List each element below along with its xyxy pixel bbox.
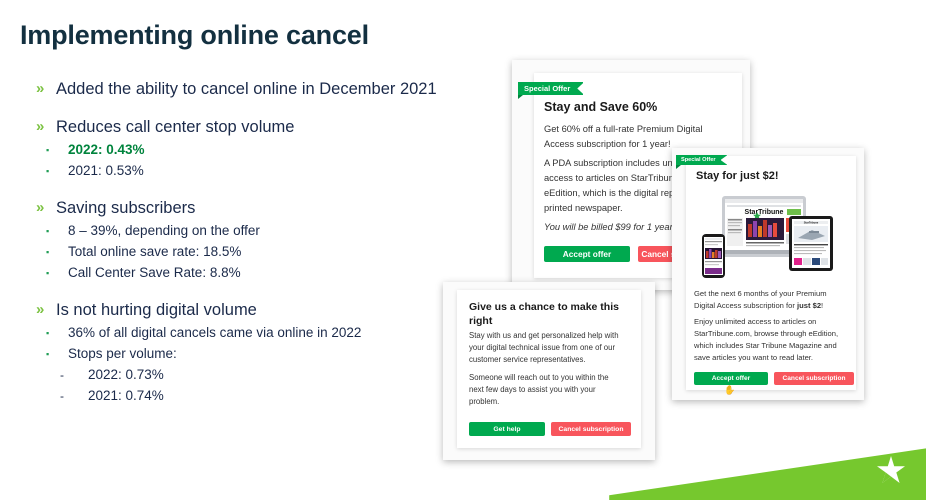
bullet-list: » Added the ability to cancel online in … (30, 78, 470, 407)
sub-bullet-item: ▪ Stops per volume: (30, 344, 470, 364)
ribbon-tail-icon (518, 95, 523, 99)
retention-paragraph-2: Someone will reach out to you within the… (469, 372, 623, 408)
sub-bullet-text: 2021: 0.53% (68, 161, 144, 181)
bullet-text: Is not hurting digital volume (56, 299, 257, 321)
sub-bullet-item: ▪ Call Center Save Rate: 8.8% (30, 263, 470, 283)
sub-bullet-item: ▪ 2022: 0.43% (30, 140, 470, 160)
sub-sub-bullet-item: - 2022: 0.73% (30, 365, 470, 385)
square-bullet-icon: ▪ (30, 242, 68, 262)
slide-canvas: Implementing online cancel » Added the a… (0, 0, 926, 500)
svg-text:StarTribune: StarTribune (804, 221, 819, 225)
bullet-text: Saving subscribers (56, 197, 195, 219)
sub-bullet-item: ▪ 8 – 39%, depending on the offer (30, 221, 470, 241)
chevron-bullet-icon: » (30, 116, 56, 138)
svg-text:StarTribune: StarTribune (745, 209, 784, 216)
retention-card-give-us-a-chance: Give us a chance to make this right Stay… (443, 282, 655, 460)
special-offer-badge-label: Special Offer (524, 84, 570, 93)
accept-offer-button[interactable]: Accept offer (694, 372, 768, 385)
bullet-text: Reduces call center stop volume (56, 116, 294, 138)
page-title: Implementing online cancel (20, 20, 369, 51)
ribbon-tail-icon (676, 165, 681, 169)
offer-card-stay-for-two-dollars: Special Offer Stay for just $2! StarTrib… (672, 148, 864, 400)
ribbon-notch-icon (577, 82, 584, 95)
offer-paragraph-1-tail: ! (821, 301, 823, 310)
square-bullet-icon: ▪ (30, 263, 68, 283)
offer-price-emphasis: just $2 (797, 301, 821, 310)
square-bullet-icon: ▪ (30, 140, 68, 160)
bullet-item: » Saving subscribers (30, 197, 470, 219)
sub-bullet-text: 2022: 0.43% (68, 140, 145, 160)
offer-heading: Stay and Save 60% (544, 100, 657, 114)
chevron-bullet-icon: » (30, 78, 56, 100)
sub-bullet-text: Total online save rate: 18.5% (68, 242, 241, 262)
sub-bullet-text: Stops per volume: (68, 344, 177, 364)
startribune-devices-image: StarTribune (694, 190, 840, 282)
bullet-text: Added the ability to cancel online in De… (56, 78, 437, 100)
bullet-item: » Reduces call center stop volume (30, 116, 470, 138)
special-offer-badge: Special Offer (676, 155, 727, 165)
sub-sub-bullet-text: 2022: 0.73% (88, 365, 164, 385)
sub-bullet-text: Call Center Save Rate: 8.8% (68, 263, 241, 283)
sub-sub-bullet-text: 2021: 0.74% (88, 386, 164, 406)
bullet-group-1: » Added the ability to cancel online in … (30, 78, 470, 100)
retention-paragraph-1: Stay with us and get personalized help w… (469, 330, 623, 366)
chevron-bullet-icon: » (30, 197, 56, 219)
bullet-item: » Is not hurting digital volume (30, 299, 470, 321)
get-help-button[interactable]: Get help (469, 422, 545, 436)
dash-bullet-icon: - (30, 365, 88, 385)
sub-bullet-text: 8 – 39%, depending on the offer (68, 221, 260, 241)
special-offer-badge: Special Offer (518, 82, 583, 95)
sub-sub-bullet-item: - 2021: 0.74% (30, 386, 470, 406)
bullet-group-4: » Is not hurting digital volume ▪ 36% of… (30, 299, 470, 406)
square-bullet-icon: ▪ (30, 161, 68, 181)
square-bullet-icon: ▪ (30, 221, 68, 241)
offer-heading: Stay for just $2! (696, 170, 779, 182)
ribbon-notch-icon (721, 155, 728, 165)
square-bullet-icon: ▪ (30, 323, 68, 343)
chevron-bullet-icon: » (30, 299, 56, 321)
accept-offer-button[interactable]: Accept offer (544, 246, 630, 262)
cancel-subscription-button[interactable]: Cancel subscription (774, 372, 854, 385)
sub-bullet-text: 36% of all digital cancels came via onli… (68, 323, 361, 343)
hand-cursor-icon: ✋ (724, 385, 735, 396)
offer-paragraph-2: Enjoy unlimited access to articles on St… (694, 316, 840, 364)
cancel-subscription-button[interactable]: Cancel subscription (551, 422, 631, 436)
sub-bullet-item: ▪ Total online save rate: 18.5% (30, 242, 470, 262)
bullet-item: » Added the ability to cancel online in … (30, 78, 470, 100)
bullet-group-2: » Reduces call center stop volume ▪ 2022… (30, 116, 470, 181)
sub-bullet-item: ▪ 2021: 0.53% (30, 161, 470, 181)
sub-bullet-item: ▪ 36% of all digital cancels came via on… (30, 323, 470, 343)
special-offer-badge-label: Special Offer (681, 157, 716, 163)
dash-bullet-icon: - (30, 386, 88, 406)
offer-paragraph-1: Get the next 6 months of your Premium Di… (694, 288, 840, 312)
star-logo-icon (874, 454, 908, 488)
bullet-group-3: » Saving subscribers ▪ 8 – 39%, dependin… (30, 197, 470, 283)
square-bullet-icon: ▪ (30, 344, 68, 364)
retention-heading: Give us a chance to make this right (469, 300, 619, 328)
